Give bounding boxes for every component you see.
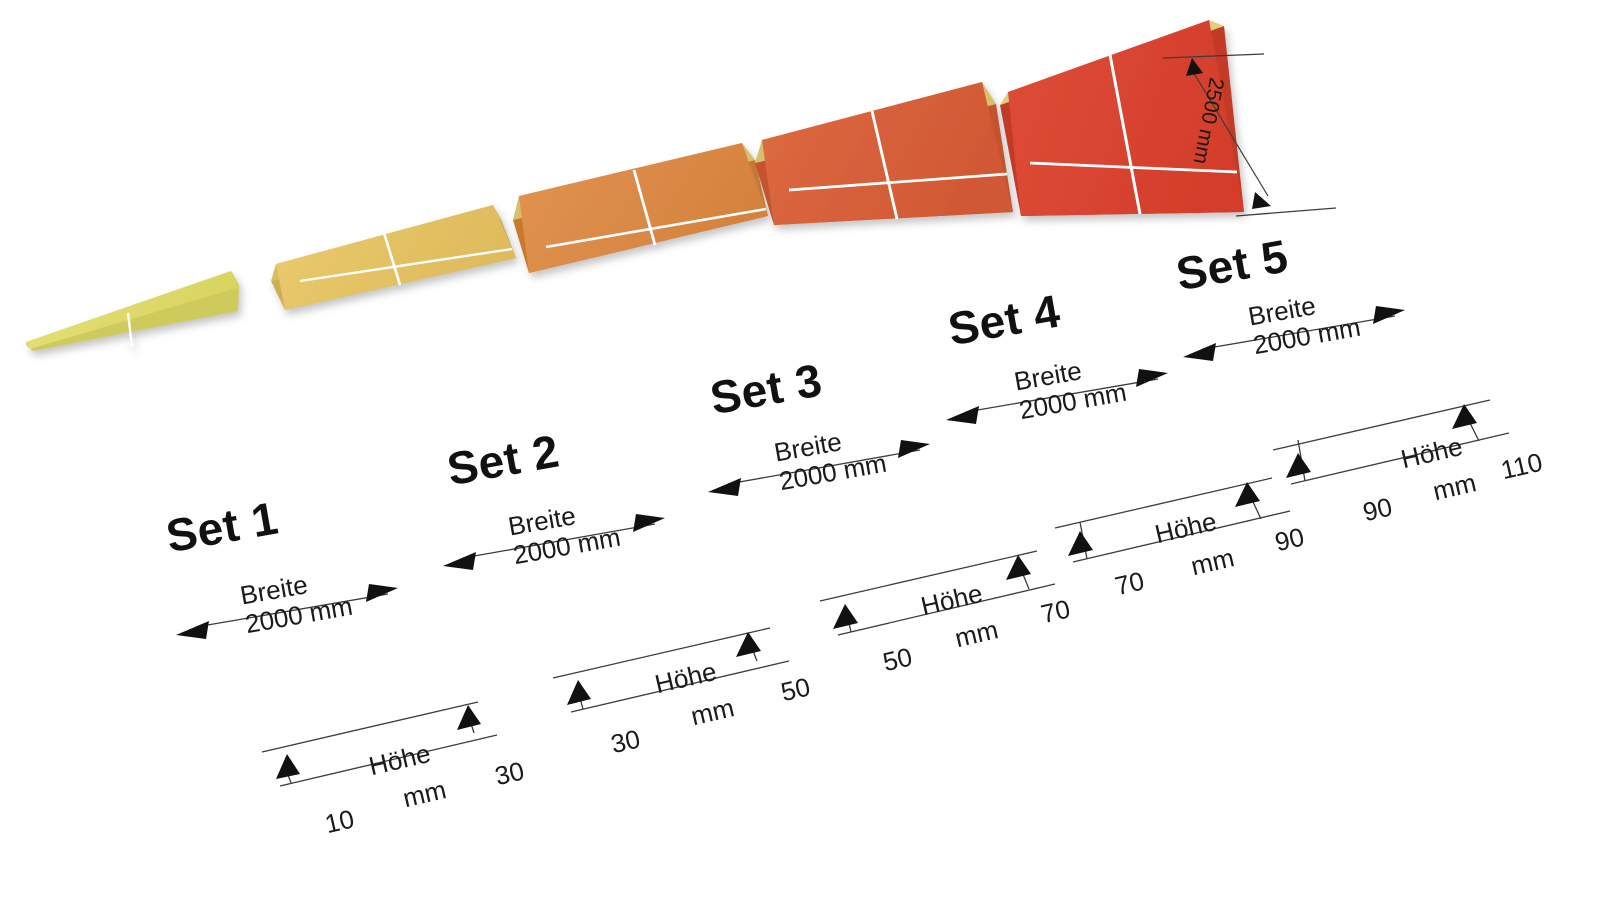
breite-arrow-left-2 [443,552,476,570]
panel-set-3[interactable] [513,143,768,273]
diagram-canvas: Set 1 Breite 2000 mm Höhe mm 10 30 Set 2… [0,0,1600,901]
breite-arrow-right-1 [366,584,398,602]
breite-arrow-right-2 [633,514,665,532]
hoehe-arrow-lo-5 [1286,453,1311,478]
hoehe-arrow-hi-3 [1006,555,1031,580]
hoehe-arrow-lo-4 [1068,531,1093,556]
hoehe-line-5b [1291,433,1509,484]
breite-arrow-left-4 [946,406,979,424]
hoehe-line-1a [262,702,478,752]
hoehe-arrow-hi-2 [736,632,761,657]
panel-set-2[interactable] [271,205,516,310]
depth-arrow-bottom [1252,192,1271,209]
hoehe-arrow-lo-3 [833,604,858,629]
hoehe-arrow-hi-1 [457,705,481,730]
breite-arrow-left-1 [176,621,209,639]
breite-arrow-right-4 [1136,369,1168,387]
hoehe-arrow-lo-2 [567,680,591,705]
breite-arrow-right-3 [898,440,930,458]
panel-set-1[interactable] [26,271,240,351]
hoehe-arrow-lo-1 [276,754,300,779]
breite-arrow-right-5 [1373,306,1405,324]
panel-set-4[interactable] [755,82,1013,225]
breite-arrow-left-5 [1183,343,1216,361]
breite-arrow-left-3 [708,478,741,496]
